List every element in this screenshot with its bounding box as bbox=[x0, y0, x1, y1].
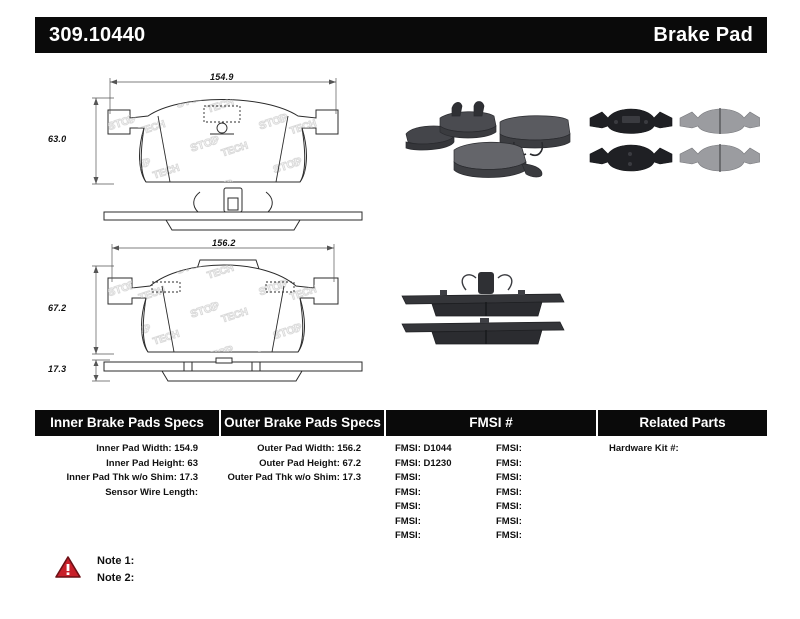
fmsi-entry: FMSI: bbox=[395, 486, 496, 501]
spec-table: Inner Brake Pads Specs Outer Brake Pads … bbox=[35, 410, 767, 544]
fmsi-entry: FMSI: bbox=[496, 500, 597, 515]
fmsi-list-right: FMSI: FMSI: FMSI: FMSI: FMSI: FMSI: FMSI… bbox=[496, 442, 597, 544]
inner-height-dimension: 63.0 bbox=[48, 134, 66, 144]
fmsi-entry: FMSI: bbox=[496, 442, 597, 457]
fmsi-entry: FMSI: bbox=[395, 471, 496, 486]
spec-outer-pad-width: Outer Pad Width: 156.2 bbox=[220, 442, 361, 457]
title-bar: 309.10440 Brake Pad bbox=[35, 17, 767, 53]
note-1: Note 1: bbox=[97, 553, 134, 570]
fmsi-entry: FMSI: bbox=[395, 515, 496, 530]
notes-section: Note 1: Note 2: bbox=[55, 553, 134, 587]
fmsi-entry: FMSI: bbox=[496, 515, 597, 530]
inner-pad-drawing: STOP TECH bbox=[88, 72, 378, 232]
spec-inner-pad-height: Inner Pad Height: 63 bbox=[35, 457, 198, 472]
fmsi-list-left: FMSI: D1044 FMSI: D1230 FMSI: FMSI: FMSI… bbox=[395, 442, 496, 544]
header-inner-specs: Inner Brake Pads Specs bbox=[35, 410, 220, 436]
fmsi-entry: FMSI: bbox=[496, 486, 597, 501]
note-2: Note 2: bbox=[97, 570, 134, 587]
spec-sensor-wire-length: Sensor Wire Length: bbox=[35, 486, 198, 501]
fmsi-entry: FMSI: D1230 bbox=[395, 457, 496, 472]
brake-pads-front-back-photo bbox=[584, 96, 760, 186]
fmsi-entry: FMSI: D1044 bbox=[395, 442, 496, 457]
header-outer-specs: Outer Brake Pads Specs bbox=[220, 410, 385, 436]
product-type: Brake Pad bbox=[653, 24, 753, 47]
header-related-parts: Related Parts bbox=[597, 410, 767, 436]
spec-inner-pad-width: Inner Pad Width: 154.9 bbox=[35, 442, 198, 457]
header-fmsi: FMSI # bbox=[385, 410, 597, 436]
cell-fmsi: FMSI: D1044 FMSI: D1230 FMSI: FMSI: FMSI… bbox=[385, 436, 597, 544]
spec-inner-pad-thickness: Inner Pad Thk w/o Shim: 17.3 bbox=[35, 471, 198, 486]
cell-related-parts: Hardware Kit #: bbox=[597, 436, 767, 544]
spec-outer-pad-thickness: Outer Pad Thk w/o Shim: 17.3 bbox=[220, 471, 361, 486]
outer-thickness-dimension: 17.3 bbox=[48, 364, 66, 374]
cell-outer-specs: Outer Pad Width: 156.2 Outer Pad Height:… bbox=[220, 436, 385, 544]
brake-pads-angled-photo bbox=[392, 96, 588, 186]
fmsi-entry: FMSI: bbox=[496, 529, 597, 544]
brake-pads-edge-photo bbox=[392, 256, 588, 350]
fmsi-entry: FMSI: bbox=[395, 529, 496, 544]
fmsi-entry: FMSI: bbox=[496, 471, 597, 486]
inner-width-dimension: 154.9 bbox=[210, 72, 234, 82]
fmsi-entry: FMSI: bbox=[496, 457, 597, 472]
outer-pad-drawing: STOP TECH bbox=[88, 238, 378, 383]
related-hardware-kit: Hardware Kit #: bbox=[609, 442, 767, 457]
cell-inner-specs: Inner Pad Width: 154.9 Inner Pad Height:… bbox=[35, 436, 220, 544]
table-header-row: Inner Brake Pads Specs Outer Brake Pads … bbox=[35, 410, 767, 436]
fmsi-entry: FMSI: bbox=[395, 500, 496, 515]
table-body-row: Inner Pad Width: 154.9 Inner Pad Height:… bbox=[35, 436, 767, 544]
part-number: 309.10440 bbox=[49, 24, 145, 47]
outer-width-dimension: 156.2 bbox=[212, 238, 236, 248]
outer-height-dimension: 67.2 bbox=[48, 303, 66, 313]
brake-pad-spec-sheet: 309.10440 Brake Pad STOP TECH bbox=[0, 0, 800, 619]
spec-outer-pad-height: Outer Pad Height: 67.2 bbox=[220, 457, 361, 472]
warning-triangle-icon bbox=[55, 555, 81, 579]
